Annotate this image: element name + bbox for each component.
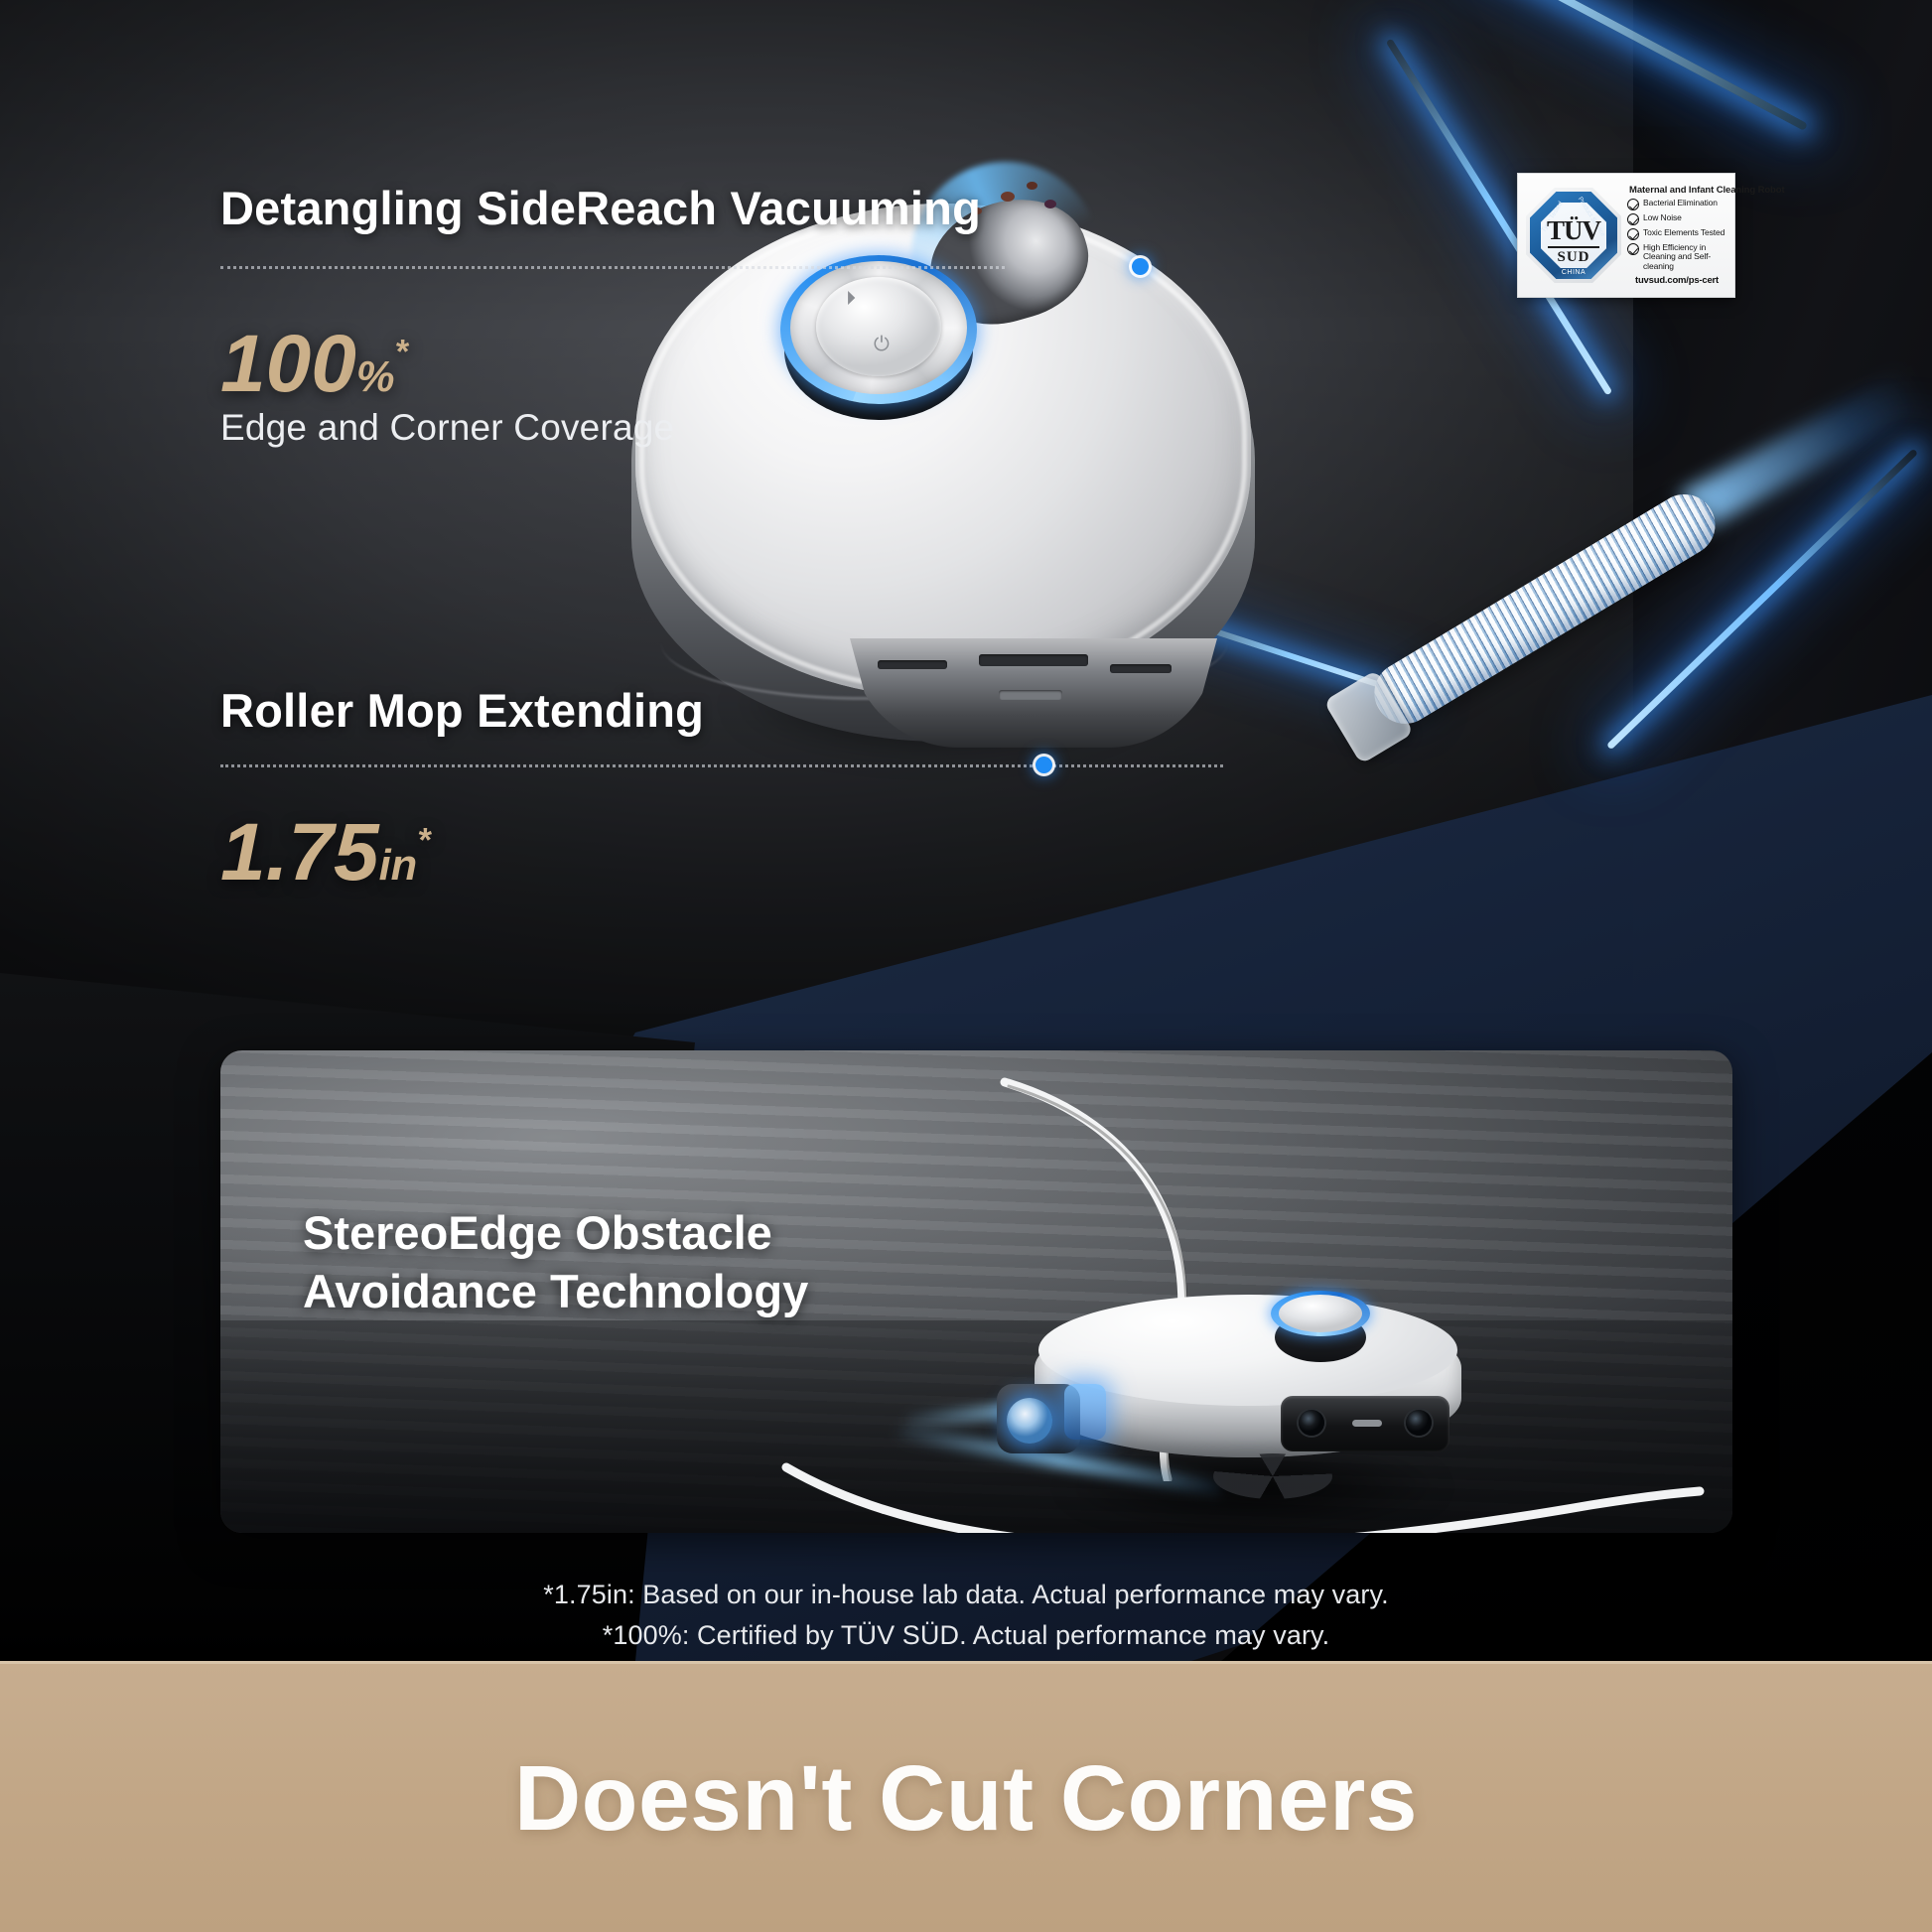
- control-buttons-face[interactable]: ⏵ ⏻: [816, 277, 941, 376]
- feature-1-asterisk: *: [394, 334, 407, 371]
- edge-sensor-light: [1007, 1398, 1052, 1444]
- tuv-sub-text: SUD: [1526, 250, 1621, 265]
- feature-1-unit: %: [356, 353, 395, 401]
- tuv-list-item: Bacterial Elimination: [1627, 199, 1726, 211]
- footnote-line-1: *1.75in: Based on our in-house lab data.…: [0, 1575, 1932, 1615]
- feature-1-title: Detangling SideReach Vacuuming: [220, 181, 981, 235]
- inset-title-line-1: StereoEdge Obstacle: [303, 1203, 808, 1262]
- product-marketing-image: ⏵ ⏻ Detangling SideReach Vacuuming 100%*…: [0, 0, 1932, 1932]
- check-circle-icon: [1627, 228, 1639, 240]
- tuv-claims-list: Maternal and Infant Cleaning Robot Bacte…: [1627, 185, 1726, 286]
- tuv-list-item: High Efficiency in Cleaning and Self-cle…: [1627, 243, 1726, 271]
- camera-lens-icon: [1299, 1410, 1324, 1436]
- stereoedge-inset-panel: StereoEdge Obstacle Avoidance Technology: [220, 1050, 1732, 1533]
- banner-headline: Doesn't Cut Corners: [514, 1745, 1418, 1852]
- footnote-line-2: *100%: Certified by TÜV SÜD. Actual perf…: [0, 1615, 1932, 1656]
- feature-1-value-group: 100%*: [220, 324, 408, 405]
- bottom-banner: Doesn't Cut Corners: [0, 1661, 1932, 1932]
- front-camera-module: [1281, 1396, 1449, 1451]
- camera-lens-icon: [1406, 1410, 1432, 1436]
- tuv-octagon-seal-icon: Type Tested Product Service TÜV SUD CHIN…: [1526, 188, 1621, 283]
- side-light-indicator: [1064, 1384, 1106, 1440]
- feature-1-value: 100: [220, 319, 356, 409]
- lidar-cap: [1279, 1295, 1362, 1332]
- tuv-certificate-url: tuvsud.com/ps-cert: [1627, 275, 1726, 286]
- tuv-country-text: CHINA: [1526, 269, 1621, 276]
- feature-1-leader-line: [220, 266, 1005, 269]
- inset-title-line-2: Avoidance Technology: [303, 1262, 808, 1320]
- check-circle-icon: [1627, 199, 1639, 210]
- tuv-item-label: High Efficiency in Cleaning and Self-cle…: [1643, 243, 1726, 271]
- tuv-wordmark: TÜV SUD: [1526, 217, 1621, 265]
- feature-2-title: Roller Mop Extending: [220, 683, 704, 738]
- tuv-divider: [1548, 246, 1599, 248]
- check-circle-icon: [1627, 213, 1639, 225]
- feature-2-unit: in: [379, 842, 418, 890]
- feature-2-leader-dot: [1035, 757, 1052, 773]
- side-brush: [1213, 1453, 1332, 1499]
- feature-2-value: 1.75: [220, 807, 379, 897]
- tuv-item-label: Low Noise: [1643, 213, 1682, 222]
- tuv-item-label: Toxic Elements Tested: [1643, 228, 1725, 237]
- robot-vacuum-angled-view: [1015, 1279, 1481, 1507]
- feature-2-asterisk: *: [417, 822, 430, 860]
- robot-vacuum-top-view: ⏵ ⏻: [631, 204, 1255, 759]
- tuv-mark-text: TÜV: [1526, 217, 1621, 244]
- tuv-item-label: Bacterial Elimination: [1643, 199, 1718, 207]
- feature-1-caption: Edge and Corner Coverage: [220, 407, 674, 449]
- tuv-headline: Maternal and Infant Cleaning Robot: [1629, 185, 1726, 196]
- robot-bumper: [850, 638, 1217, 748]
- tuv-list-item: Toxic Elements Tested: [1627, 228, 1726, 241]
- ir-emitter: [1352, 1420, 1382, 1427]
- tuv-list-item: Low Noise: [1627, 213, 1726, 226]
- check-circle-icon: [1627, 243, 1639, 255]
- feature-1-leader-dot: [1132, 258, 1149, 275]
- hero-scene: ⏵ ⏻ Detangling SideReach Vacuuming 100%*…: [0, 0, 1932, 1661]
- inset-title: StereoEdge Obstacle Avoidance Technology: [303, 1203, 808, 1320]
- feature-2-leader-line: [220, 764, 1223, 767]
- feature-2-value-group: 1.75in*: [220, 812, 431, 894]
- tuv-sud-certification-badge: Type Tested Product Service TÜV SUD CHIN…: [1517, 173, 1735, 298]
